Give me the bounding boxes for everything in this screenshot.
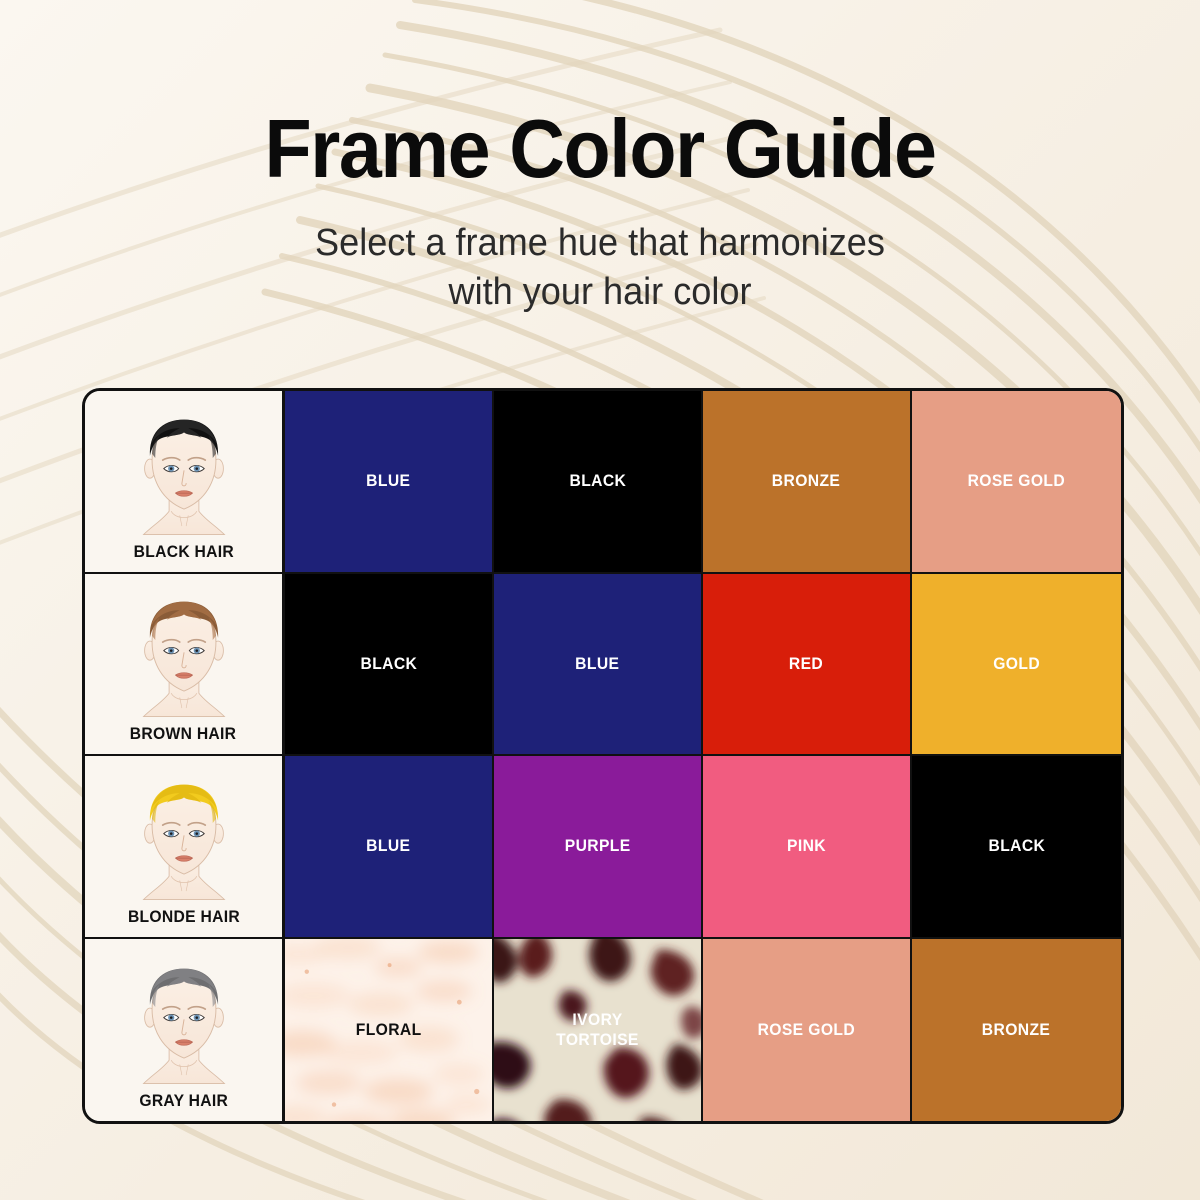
swatch-label: IVORYTORTOISE	[556, 1010, 639, 1050]
swatch-red-r1c2[interactable]: RED	[703, 574, 912, 757]
swatch-blue-r0c0[interactable]: BLUE	[285, 391, 494, 574]
swatch-gold-r1c3[interactable]: GOLD	[912, 574, 1121, 757]
hair-label: BLONDE HAIR	[127, 908, 239, 927]
swatch-blue-r2c0[interactable]: BLUE	[285, 756, 494, 939]
swatch-label: BLACK	[360, 654, 417, 674]
face-brown-hair-icon	[120, 591, 248, 723]
swatch-label: PINK	[787, 836, 826, 856]
swatch-rose-gold-r0c3[interactable]: ROSE GOLD	[912, 391, 1121, 574]
swatch-black-r1c0[interactable]: BLACK	[285, 574, 494, 757]
hair-label: BROWN HAIR	[130, 725, 236, 744]
swatch-ivory-tortoise-r3c1[interactable]: IVORYTORTOISE	[494, 939, 703, 1122]
swatch-label: BLUE	[366, 471, 410, 491]
face-blonde-hair-icon	[120, 774, 248, 906]
swatch-label: ROSE GOLD	[968, 471, 1065, 491]
swatch-pink-r2c2[interactable]: PINK	[703, 756, 912, 939]
header: Frame Color Guide Select a frame hue tha…	[0, 0, 1200, 317]
swatch-label: BLACK	[988, 836, 1045, 856]
swatch-label: ROSE GOLD	[758, 1020, 855, 1040]
hair-cell-3[interactable]: GRAY HAIR	[85, 939, 285, 1122]
swatch-black-r0c1[interactable]: BLACK	[494, 391, 703, 574]
hair-cell-0[interactable]: BLACK HAIR	[85, 391, 285, 574]
swatch-black-r2c3[interactable]: BLACK	[912, 756, 1121, 939]
swatch-label: GOLD	[993, 654, 1040, 674]
face-gray-hair-icon	[120, 958, 248, 1090]
frame-color-grid: BLACK HAIR BLUE BLACK BRONZE	[82, 388, 1124, 1124]
subtitle-line-2: with your hair color	[30, 268, 1170, 317]
swatch-blue-r1c1[interactable]: BLUE	[494, 574, 703, 757]
hair-label: GRAY HAIR	[139, 1092, 228, 1111]
swatch-rose-gold-r3c2[interactable]: ROSE GOLD	[703, 939, 912, 1122]
swatch-bronze-r0c2[interactable]: BRONZE	[703, 391, 912, 574]
swatch-label: BRONZE	[982, 1020, 1050, 1040]
swatch-purple-r2c1[interactable]: PURPLE	[494, 756, 703, 939]
swatch-label: BLACK	[569, 471, 626, 491]
swatch-label: FLORAL	[356, 1020, 422, 1040]
swatch-label: BLUE	[366, 836, 410, 856]
face-black-hair-icon	[120, 409, 248, 541]
subtitle-line-1: Select a frame hue that harmonizes	[30, 219, 1170, 268]
swatch-bronze-r3c3[interactable]: BRONZE	[912, 939, 1121, 1122]
page-subtitle: Select a frame hue that harmonizes with …	[30, 189, 1170, 316]
swatch-label: BRONZE	[772, 471, 840, 491]
hair-cell-2[interactable]: BLONDE HAIR	[85, 756, 285, 939]
page-title: Frame Color Guide	[42, 0, 1158, 189]
swatch-floral-r3c0[interactable]: FLORAL	[285, 939, 494, 1122]
swatch-label: BLUE	[575, 654, 619, 674]
hair-cell-1[interactable]: BROWN HAIR	[85, 574, 285, 757]
swatch-label: PURPLE	[565, 836, 631, 856]
swatch-label: RED	[789, 654, 823, 674]
hair-label: BLACK HAIR	[133, 543, 233, 562]
